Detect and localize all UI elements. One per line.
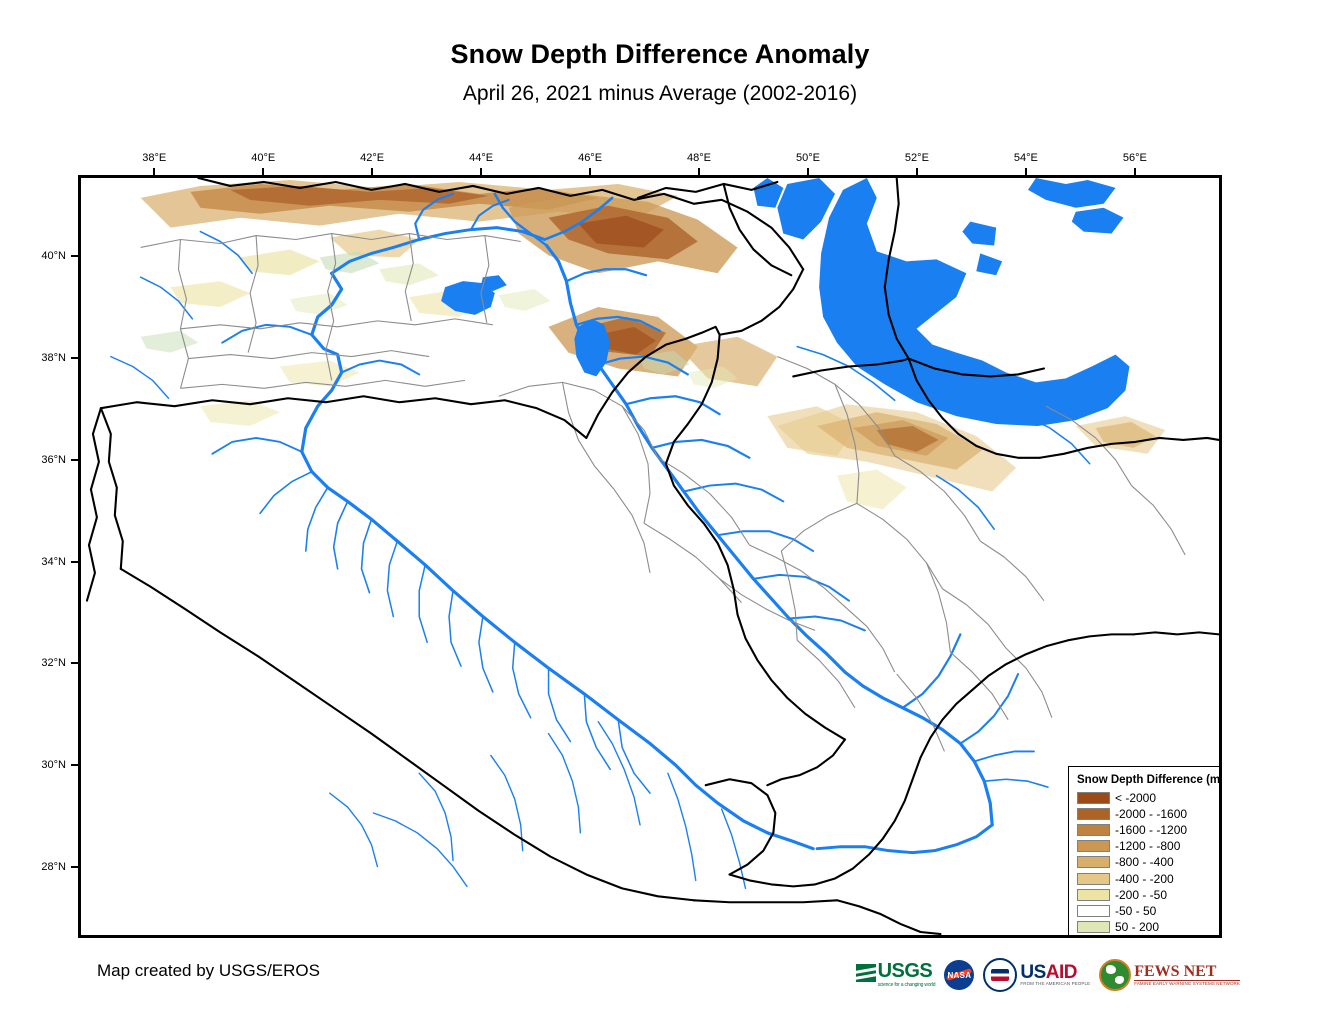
nasa-logo-text: NASA — [944, 960, 974, 990]
latitude-tick-mark — [71, 764, 78, 766]
latitude-tick-mark — [71, 561, 78, 563]
legend-range-label: -800 - -400 — [1115, 856, 1174, 868]
longitude-tick-mark — [1025, 168, 1027, 175]
legend-title: Snow Depth Difference (mm) — [1077, 774, 1222, 786]
longitude-tick-mark — [807, 168, 809, 175]
longitude-tick-label: 42°E — [360, 152, 384, 164]
legend-range-label: -400 - -200 — [1115, 873, 1174, 885]
legend-color-swatch — [1077, 873, 1110, 885]
legend-color-swatch — [1077, 840, 1110, 852]
longitude-tick-mark — [480, 168, 482, 175]
latitude-tick-mark — [71, 255, 78, 257]
legend-range-label: < -2000 — [1115, 792, 1156, 804]
latitude-tick-label: 40°N — [20, 250, 66, 262]
usaid-logo-text-us: US — [1020, 962, 1045, 983]
map-canvas — [81, 178, 1219, 935]
longitude-tick-mark — [698, 168, 700, 175]
longitude-tick-label: 52°E — [905, 152, 929, 164]
legend-color-swatch — [1077, 856, 1110, 868]
title-block: Snow Depth Difference Anomaly April 26, … — [0, 0, 1320, 105]
longitude-tick-label: 44°E — [469, 152, 493, 164]
fewsnet-logo-text: FEWS NET — [1134, 964, 1240, 980]
legend-range-label: -1200 - -800 — [1115, 840, 1180, 852]
map-frame[interactable]: Snow Depth Difference (mm) < -2000-2000 … — [78, 175, 1222, 938]
longitude-tick-mark — [1134, 168, 1136, 175]
longitude-tick-mark — [262, 168, 264, 175]
latitude-tick-mark — [71, 459, 78, 461]
longitude-tick-label: 46°E — [578, 152, 602, 164]
legend-color-swatch — [1077, 905, 1110, 917]
legend-row: -800 - -400 — [1077, 854, 1222, 870]
legend-range-label: -50 - 50 — [1115, 905, 1156, 917]
latitude-tick-mark — [71, 357, 78, 359]
map-credit: Map created by USGS/EROS — [97, 961, 320, 981]
latitude-tick-label: 38°N — [20, 352, 66, 364]
map-legend: Snow Depth Difference (mm) < -2000-2000 … — [1068, 766, 1222, 938]
longitude-tick-mark — [371, 168, 373, 175]
latitude-tick-mark — [71, 866, 78, 868]
usaid-logo-tagline: FROM THE AMERICAN PEOPLE — [1020, 982, 1090, 986]
legend-range-label: 200 - 400 — [1115, 937, 1166, 938]
usgs-logo-tagline: science for a changing world — [878, 982, 936, 988]
fewsnet-logo[interactable]: FEWS NET FAMINE EARLY WARNING SYSTEMS NE… — [1099, 955, 1240, 995]
legend-row: -400 - -200 — [1077, 870, 1222, 886]
legend-row: -200 - -50 — [1077, 887, 1222, 903]
latitude-tick-label: 32°N — [20, 657, 66, 669]
longitude-tick-label: 48°E — [687, 152, 711, 164]
legend-row: < -2000 — [1077, 790, 1222, 806]
latitude-tick-label: 36°N — [20, 454, 66, 466]
legend-row: -50 - 50 — [1077, 903, 1222, 919]
usgs-logo-text: USGS — [878, 962, 936, 981]
page-subtitle: April 26, 2021 minus Average (2002-2016) — [0, 82, 1320, 105]
longitude-tick-label: 50°E — [796, 152, 820, 164]
legend-row: -2000 - -1600 — [1077, 806, 1222, 822]
longitude-tick-label: 40°E — [251, 152, 275, 164]
legend-color-swatch — [1077, 808, 1110, 820]
legend-color-swatch — [1077, 921, 1110, 933]
legend-range-label: -1600 - -1200 — [1115, 824, 1187, 836]
usaid-logo-text-aid: AID — [1046, 962, 1077, 983]
legend-color-swatch — [1077, 792, 1110, 804]
fewsnet-globe-icon — [1099, 959, 1131, 991]
legend-range-label: -2000 - -1600 — [1115, 808, 1187, 820]
latitude-tick-label: 34°N — [20, 556, 66, 568]
usaid-seal-icon — [983, 958, 1017, 992]
latitude-tick-label: 28°N — [20, 861, 66, 873]
usaid-logo[interactable]: USAID FROM THE AMERICAN PEOPLE — [983, 955, 1090, 995]
legend-row: 200 - 400 — [1077, 935, 1222, 938]
latitude-tick-label: 30°N — [20, 759, 66, 771]
page-title: Snow Depth Difference Anomaly — [0, 40, 1320, 70]
legend-color-swatch — [1077, 937, 1110, 938]
usgs-wave-icon — [856, 964, 876, 982]
legend-row: -1600 - -1200 — [1077, 822, 1222, 838]
longitude-tick-label: 54°E — [1014, 152, 1038, 164]
legend-row: 50 - 200 — [1077, 919, 1222, 935]
agency-logos: USGS science for a changing world NASA U… — [856, 955, 1240, 995]
longitude-tick-mark — [589, 168, 591, 175]
legend-color-swatch — [1077, 824, 1110, 836]
fewsnet-logo-tagline: FAMINE EARLY WARNING SYSTEMS NETWORK — [1134, 980, 1240, 987]
longitude-tick-label: 56°E — [1123, 152, 1147, 164]
nasa-meatball-icon: NASA — [944, 960, 974, 990]
longitude-tick-mark — [916, 168, 918, 175]
legend-range-label: -200 - -50 — [1115, 889, 1167, 901]
nasa-logo[interactable]: NASA — [944, 955, 974, 995]
legend-color-swatch — [1077, 889, 1110, 901]
longitude-tick-mark — [153, 168, 155, 175]
legend-range-label: 50 - 200 — [1115, 921, 1159, 933]
legend-row: -1200 - -800 — [1077, 838, 1222, 854]
legend-class-list: < -2000-2000 - -1600-1600 - -1200-1200 -… — [1077, 790, 1222, 938]
latitude-tick-mark — [71, 662, 78, 664]
usgs-logo[interactable]: USGS science for a changing world — [856, 955, 936, 995]
longitude-tick-label: 38°E — [142, 152, 166, 164]
